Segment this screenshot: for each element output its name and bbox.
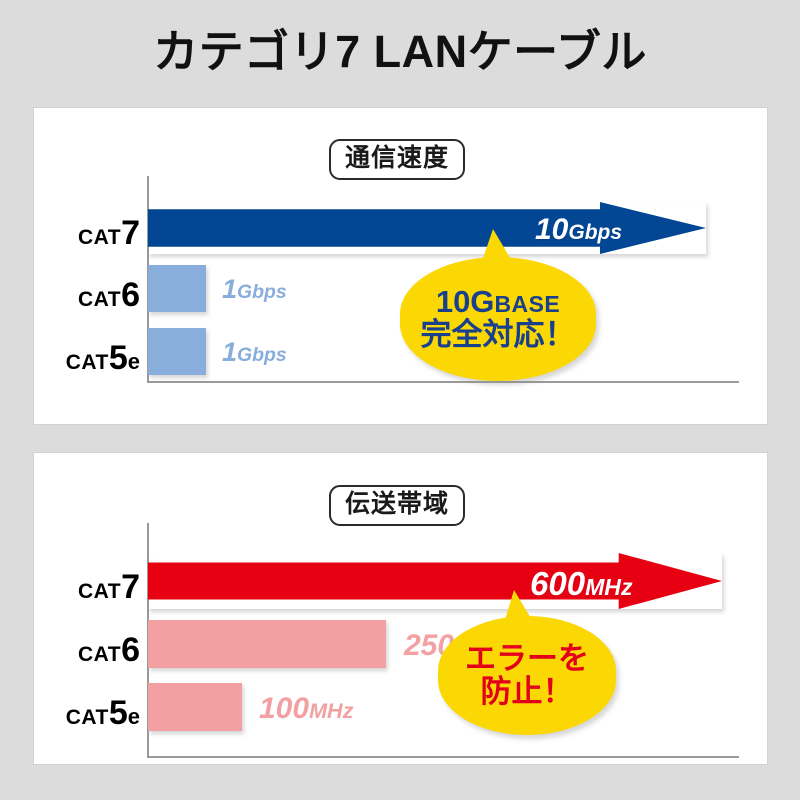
callout-text: 10GBASE 完全対応！ (400, 257, 596, 381)
bar-cat6-speed (148, 265, 206, 312)
bar-cat5e-speed (148, 328, 206, 375)
section-badge-bandwidth: 伝送帯域 (329, 485, 465, 526)
row-label-cat6: CAT6 (48, 278, 140, 312)
arrow-shape-bandwidth (148, 553, 722, 609)
page-title: カテゴリ7 LANケーブル (0, 22, 800, 83)
bar-value-cat6-speed: 1Gbps (222, 276, 287, 303)
bar-value-cat5e-bandwidth: 100MHz (259, 694, 353, 724)
bar-cat7-bandwidth: 600MHz (148, 553, 722, 609)
section-badge-speed: 通信速度 (329, 139, 465, 180)
callout-text: エラーを 防止！ (438, 616, 616, 735)
row-label-cat6: CAT6 (48, 633, 140, 667)
bar-value-cat7-bandwidth: 600MHz (530, 567, 633, 600)
chart-axis-horizontal (147, 381, 739, 383)
row-label-cat7: CAT7 (48, 216, 140, 250)
row-label-cat5e: CAT5e (48, 341, 140, 375)
chart-axis-horizontal (147, 756, 739, 758)
panel-transmission-bandwidth: 伝送帯域 CAT7 600MHz CAT6 250MHz CAT5e 100MH… (33, 452, 768, 765)
bar-value-cat7-speed: 10Gbps (535, 215, 622, 245)
arrow-shape-speed (148, 202, 706, 254)
bar-cat5e-bandwidth (148, 683, 242, 731)
row-label-cat5e: CAT5e (48, 696, 140, 730)
panel-communication-speed: 通信速度 CAT7 10Gbps CAT6 1Gbps CAT5e 1Gbps … (33, 107, 768, 425)
bar-cat7-speed: 10Gbps (148, 202, 706, 254)
bar-cat6-bandwidth (148, 620, 386, 668)
bar-value-cat5e-speed: 1Gbps (222, 339, 287, 366)
callout-error-prevention: エラーを 防止！ (438, 616, 616, 735)
callout-10gbase: 10GBASE 完全対応！ (400, 257, 596, 381)
row-label-cat7: CAT7 (48, 570, 140, 604)
